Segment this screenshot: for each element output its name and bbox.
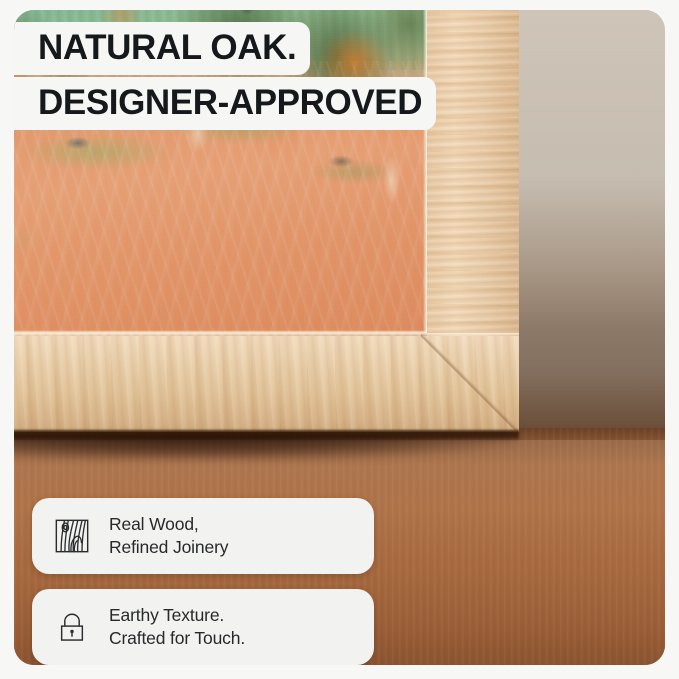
screenshot-root: NATURAL OAK. DESIGNER-APPROVED	[0, 0, 679, 679]
frame-mitre-joint	[421, 334, 519, 432]
product-photo: NATURAL OAK. DESIGNER-APPROVED	[14, 10, 665, 665]
oak-picture-frame	[14, 10, 519, 432]
artwork-dark-flecks	[14, 10, 427, 333]
feature-badge-earthy-texture: Earthy Texture. Crafted for Touch.	[32, 589, 374, 665]
feature-badge-real-wood: Real Wood, Refined Joinery	[32, 498, 374, 574]
feature-badge-label: Earthy Texture. Crafted for Touch.	[109, 604, 245, 650]
framed-artwork	[14, 10, 427, 333]
feature-badge-list: Real Wood, Refined Joinery Earthy Textur…	[32, 498, 374, 665]
padlock-icon	[52, 607, 92, 647]
artwork-canvas	[14, 10, 427, 333]
wood-grain-icon	[52, 516, 92, 556]
frame-right-stile	[427, 10, 519, 380]
frame-underside-shadow	[14, 430, 519, 441]
feature-badge-label: Real Wood, Refined Joinery	[109, 513, 228, 559]
